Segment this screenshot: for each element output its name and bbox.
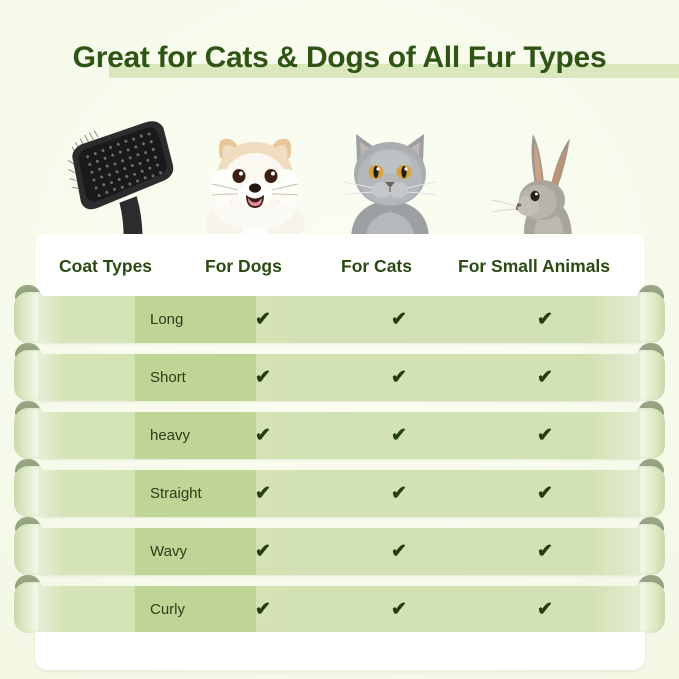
- page-title: Great for Cats & Dogs of All Fur Types: [73, 38, 607, 78]
- cell-check-cats: ✔: [387, 528, 411, 575]
- row-band: heavy ✔ ✔ ✔: [40, 412, 639, 459]
- rabbit-icon: [480, 118, 610, 240]
- ribbon-curl-left-icon: [14, 296, 42, 343]
- table-row: Straight ✔ ✔ ✔: [0, 470, 679, 517]
- table-body: Long ✔ ✔ ✔ Short ✔ ✔ ✔ heavy: [0, 296, 679, 636]
- row-label-short: Short: [150, 354, 186, 401]
- column-header-for-small-animals: For Small Animals: [458, 234, 610, 298]
- cell-check-cats: ✔: [387, 296, 411, 343]
- cell-check-dogs: ✔: [251, 354, 275, 401]
- table-row: Curly ✔ ✔ ✔: [0, 586, 679, 633]
- row-band: Curly ✔ ✔ ✔: [40, 586, 639, 633]
- row-label-wavy: Wavy: [150, 528, 187, 575]
- row-label-long: Long: [150, 296, 183, 343]
- ribbon-curl-right-icon: [637, 296, 665, 343]
- row-band: Long ✔ ✔ ✔: [40, 296, 639, 343]
- grey-cat-icon: [325, 118, 455, 240]
- table-header-card: Coat Types For Dogs For Cats For Small A…: [35, 234, 645, 298]
- column-header-for-cats: For Cats: [341, 234, 412, 298]
- column-header-coat-types: Coat Types: [59, 234, 152, 298]
- table-row: Short ✔ ✔ ✔: [0, 354, 679, 401]
- table-row: heavy ✔ ✔ ✔: [0, 412, 679, 459]
- cell-check-cats: ✔: [387, 470, 411, 517]
- cell-check-cats: ✔: [387, 412, 411, 459]
- cell-check-small: ✔: [533, 586, 557, 633]
- ribbon-curl-left-icon: [14, 354, 42, 401]
- hero-image-row: [0, 118, 679, 240]
- cell-check-small: ✔: [533, 412, 557, 459]
- pomeranian-dog-icon: [190, 118, 320, 240]
- cell-check-cats: ✔: [387, 586, 411, 633]
- row-band: Straight ✔ ✔ ✔: [40, 470, 639, 517]
- cell-check-dogs: ✔: [251, 586, 275, 633]
- row-label-curly: Curly: [150, 586, 185, 633]
- table-row: Long ✔ ✔ ✔: [0, 296, 679, 343]
- cell-check-small: ✔: [533, 296, 557, 343]
- ribbon-curl-left-icon: [14, 528, 42, 575]
- ribbon-curl-right-icon: [637, 528, 665, 575]
- row-label-straight: Straight: [150, 470, 202, 517]
- cell-check-small: ✔: [533, 354, 557, 401]
- cell-check-cats: ✔: [387, 354, 411, 401]
- ribbon-curl-right-icon: [637, 470, 665, 517]
- pet-slicker-brush-icon: [58, 118, 188, 240]
- ribbon-curl-left-icon: [14, 412, 42, 459]
- cell-check-dogs: ✔: [251, 412, 275, 459]
- ribbon-curl-left-icon: [14, 470, 42, 517]
- row-label-heavy: heavy: [150, 412, 190, 459]
- cell-check-small: ✔: [533, 470, 557, 517]
- cell-check-small: ✔: [533, 528, 557, 575]
- row-band: Wavy ✔ ✔ ✔: [40, 528, 639, 575]
- cell-check-dogs: ✔: [251, 470, 275, 517]
- table-row: Wavy ✔ ✔ ✔: [0, 528, 679, 575]
- table-header-row: Coat Types For Dogs For Cats For Small A…: [35, 234, 645, 298]
- cell-check-dogs: ✔: [251, 528, 275, 575]
- column-header-for-dogs: For Dogs: [205, 234, 282, 298]
- ribbon-curl-right-icon: [637, 354, 665, 401]
- ribbon-curl-right-icon: [637, 586, 665, 633]
- ribbon-curl-right-icon: [637, 412, 665, 459]
- table-footer-card: [35, 632, 645, 670]
- cell-check-dogs: ✔: [251, 296, 275, 343]
- ribbon-curl-left-icon: [14, 586, 42, 633]
- row-band: Short ✔ ✔ ✔: [40, 354, 639, 401]
- page-title-block: Great for Cats & Dogs of All Fur Types: [0, 38, 679, 78]
- infographic-root: Great for Cats & Dogs of All Fur Types: [0, 0, 679, 679]
